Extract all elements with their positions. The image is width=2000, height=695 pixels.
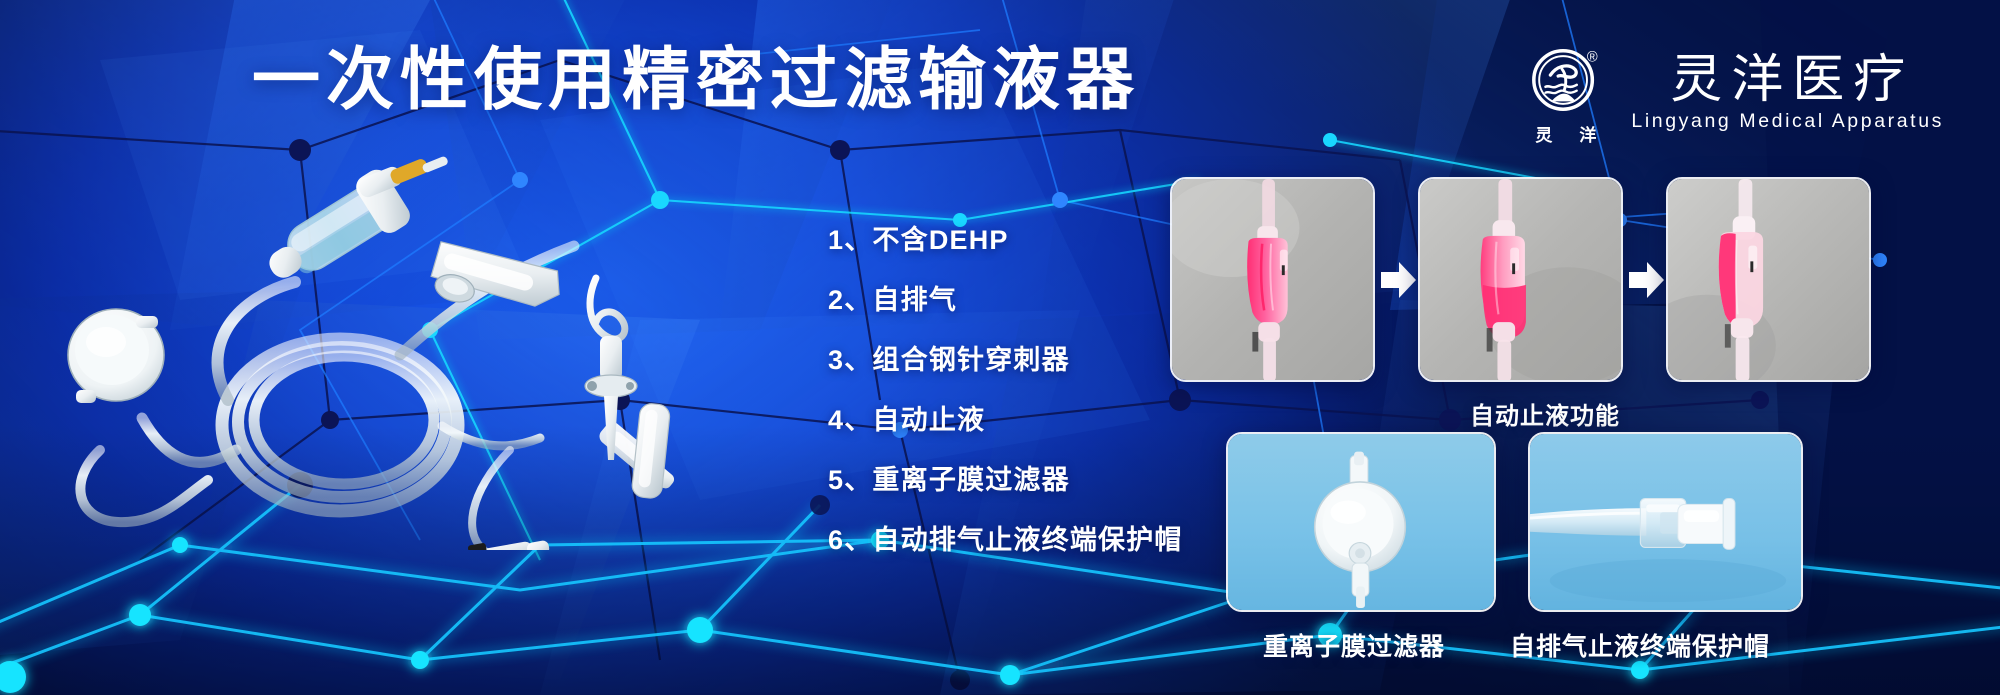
arrow-right-icon xyxy=(1625,258,1667,302)
feature-item: 1、不含DEHP xyxy=(828,218,1183,257)
detail-caption: 重离子膜过滤器 xyxy=(1263,627,1445,663)
feature-item: 4、自动止液 xyxy=(828,398,1183,437)
detail-card-filter xyxy=(1226,432,1496,612)
logo-mark: ® 灵 洋 xyxy=(1527,40,1605,146)
brand-name-cn: 灵洋医疗 xyxy=(1661,54,1914,106)
steel-needle-part xyxy=(585,278,637,460)
logo-char-yang: 洋 xyxy=(1579,121,1597,146)
banner-title: 一次性使用精密过滤输液器 xyxy=(252,46,1140,114)
sequence-caption: 自动止液功能 xyxy=(1470,396,1620,431)
detail-caption: 自排气止液终端保护帽 xyxy=(1510,627,1770,663)
arrow-right-icon xyxy=(1377,258,1419,302)
detail-card-protective-cap xyxy=(1528,432,1803,612)
round-filter-part xyxy=(68,309,164,403)
lingyang-emblem-icon: ® xyxy=(1527,40,1605,118)
feature-item: 3、组合钢针穿刺器 xyxy=(828,338,1183,377)
brand-logo: ® 灵 洋 灵洋医疗 Lingyang Medical Apparatus xyxy=(1527,40,1944,146)
sequence-frame-card xyxy=(1170,177,1375,382)
spike-cap-part xyxy=(356,155,449,199)
product-banner: 一次性使用精密过滤输液器 ® 灵 洋 灵洋医疗 xyxy=(0,0,2000,695)
brand-name-en: Lingyang Medical Apparatus xyxy=(1631,110,1944,133)
product-photo-infusion-set xyxy=(40,150,760,550)
feature-list: 1、不含DEHP 2、自排气 3、组合钢针穿刺器 4、自动止液 5、重离子膜过滤… xyxy=(828,218,1183,557)
end-connector-part xyxy=(446,532,551,550)
feature-item: 2、自排气 xyxy=(828,278,1183,317)
brand-name-group: 灵洋医疗 Lingyang Medical Apparatus xyxy=(1631,54,1944,133)
feature-item: 5、重离子膜过滤器 xyxy=(828,458,1183,497)
logo-char-ling: 灵 xyxy=(1535,121,1553,146)
registered-mark: ® xyxy=(1587,49,1598,65)
logo-sub-characters: 灵 洋 xyxy=(1535,121,1597,146)
sequence-frame-card xyxy=(1418,177,1623,382)
sequence-frame-card xyxy=(1666,177,1871,382)
feature-item: 6、自动排气止液终端保护帽 xyxy=(828,518,1183,557)
